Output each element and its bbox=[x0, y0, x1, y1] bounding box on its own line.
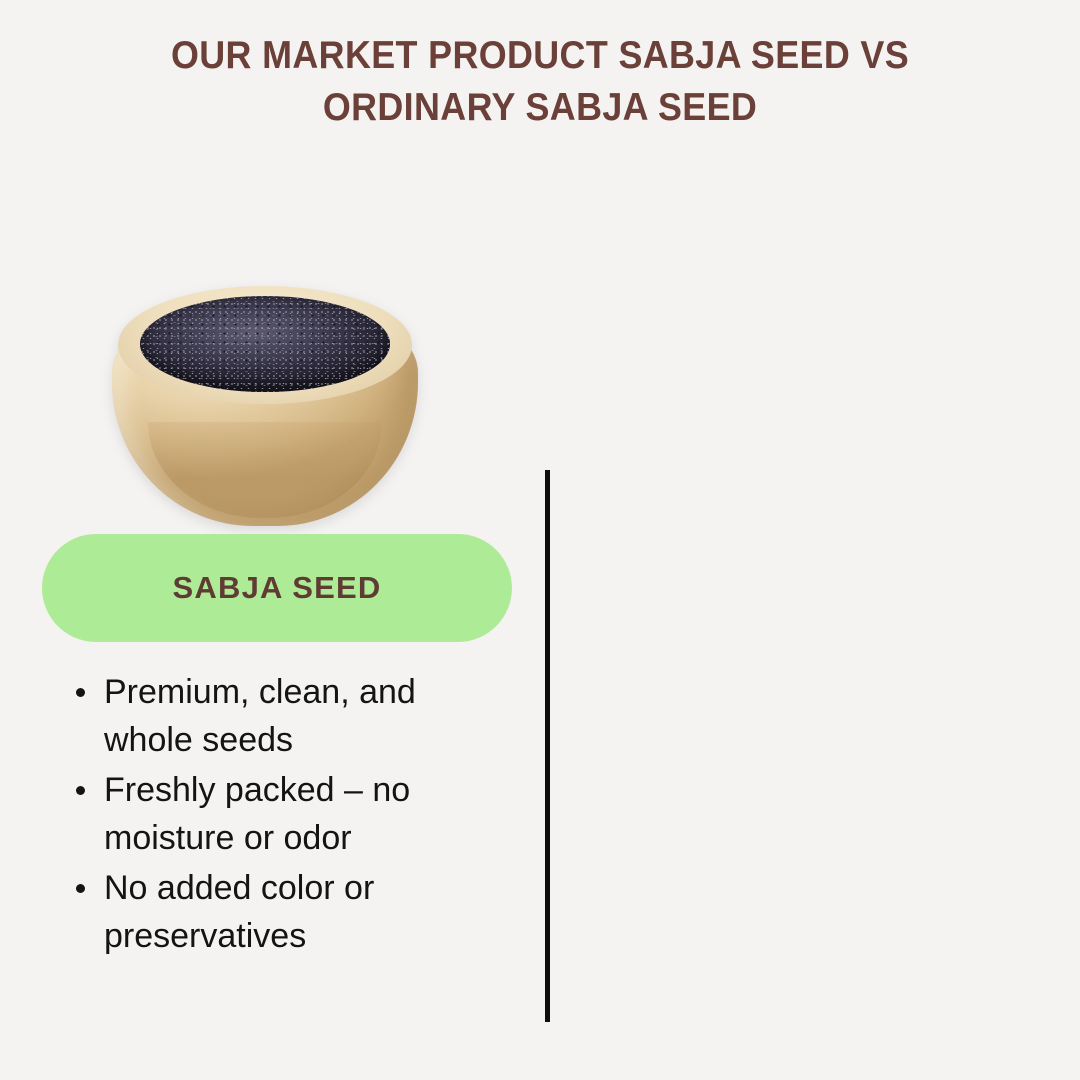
column-premium: SABJA SEED Premium, clean, and whole see… bbox=[0, 0, 540, 1080]
list-item-label: Freshly packed – no moisture or odor bbox=[104, 766, 472, 862]
list-item: Freshly packed – no moisture or odor bbox=[72, 766, 472, 862]
list-item-label: No added color or preservatives bbox=[104, 864, 472, 960]
feature-list-premium: Premium, clean, and whole seeds Freshly … bbox=[72, 668, 472, 962]
comparison-infographic: OUR MARKET PRODUCT SABJA SEED VS ORDINAR… bbox=[0, 0, 1080, 1080]
list-item: No added color or preservatives bbox=[72, 864, 472, 960]
sabja-seed-wooden-bowl-photo bbox=[100, 272, 430, 534]
list-item: Premium, clean, and whole seeds bbox=[72, 668, 472, 764]
label-pill-sabja-seed: SABJA SEED bbox=[42, 534, 512, 642]
column-ordinary: ORDINARY SABJA SEED Contain broken, dust… bbox=[540, 0, 1080, 1080]
bullet-dot-icon bbox=[76, 786, 85, 795]
wooden-bowl-graphic bbox=[100, 272, 430, 534]
label-pill-sabja-seed-text: SABJA SEED bbox=[173, 570, 382, 606]
bullet-dot-icon bbox=[76, 688, 85, 697]
list-item-label: Premium, clean, and whole seeds bbox=[104, 668, 472, 764]
bullet-dot-icon bbox=[76, 884, 85, 893]
seed-fill-texture bbox=[140, 296, 390, 392]
